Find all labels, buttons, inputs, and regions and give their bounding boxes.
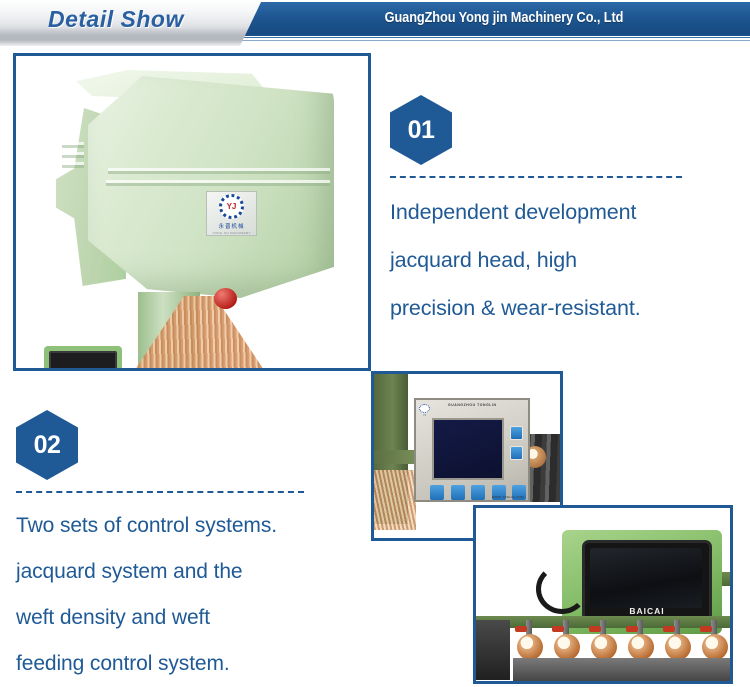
- feature-number-01: 01: [408, 116, 435, 145]
- feature-line: jacquard system and the: [16, 549, 366, 595]
- housing-vent-1: [62, 142, 84, 145]
- feeder-dark-block: [476, 620, 510, 680]
- panel-lcd-screen: [432, 418, 504, 480]
- control-panel-enclosure: YJ GUANGZHOU TONGLIN WWW.TONLIN.COM: [414, 398, 530, 502]
- yarn-cone: [517, 634, 543, 660]
- panel-brand-label: GUANGZHOU TONGLIN: [448, 403, 497, 407]
- panel-logo-text: YJ: [423, 414, 426, 417]
- red-indicator-knob: [214, 288, 237, 309]
- feeder-clip: [626, 626, 638, 632]
- panel-logo-icon: YJ: [419, 404, 430, 417]
- feature-block-01: 01 Independent development jacquard head…: [390, 95, 735, 332]
- weft-feeder-unit: [587, 620, 624, 684]
- feature-line: jacquard head, high: [390, 236, 735, 284]
- feeder-clip: [663, 626, 675, 632]
- photo-weft-feeder: BAICAI: [473, 505, 733, 684]
- nameplate-chinese: 永晋机械: [218, 222, 244, 230]
- company-name: GuangZhou Yong jin Machinery Co., Ltd: [288, 2, 721, 34]
- weft-feeder-unit: [661, 620, 698, 684]
- yarn-cone: [628, 634, 654, 660]
- auxiliary-display-unit: [44, 346, 122, 371]
- nameplate-pinyin: YONG JIN MACHINERY: [212, 231, 250, 235]
- feature-divider-02: [16, 491, 304, 493]
- machine-main-housing: [88, 76, 334, 298]
- feeder-clip: [700, 626, 712, 632]
- auxiliary-display-screen: [49, 351, 117, 371]
- housing-vent-2: [62, 152, 84, 155]
- feeder-base: [513, 658, 550, 684]
- feature-line: Independent development: [390, 188, 735, 236]
- weft-feeder-row: [476, 620, 733, 684]
- feature-divider-01: [390, 176, 682, 178]
- touchscreen-glass: [590, 548, 702, 608]
- yarn-cone: [702, 634, 728, 660]
- weft-feeder-unit: [624, 620, 661, 684]
- photo-jacquard-head: YJ 永晋机械 YONG JIN MACHINERY: [13, 53, 371, 371]
- feeder-clip: [515, 626, 527, 632]
- yarn-cone: [591, 634, 617, 660]
- yarn-cone: [554, 634, 580, 660]
- housing-ridge-1: [108, 168, 330, 171]
- nameplate-badge: YJ 永晋机械 YONG JIN MACHINERY: [206, 191, 257, 236]
- feature-number-02: 02: [34, 431, 61, 460]
- page-header: Detail Show GuangZhou Yong jin Machinery…: [0, 0, 750, 46]
- hexagon-badge-02: 02: [16, 410, 78, 480]
- feature-line: precision & wear-resistant.: [390, 284, 735, 332]
- panel-logo-circle: [419, 404, 430, 413]
- feature-line: weft density and weft: [16, 595, 366, 641]
- gear-logo-icon: YJ: [219, 194, 244, 219]
- weft-feeder-unit: [513, 620, 550, 684]
- feature-text-01: Independent development jacquard head, h…: [390, 188, 735, 332]
- feature-text-02: Two sets of control systems. jacquard sy…: [16, 503, 366, 687]
- feeder-base: [587, 658, 624, 684]
- feeder-base: [698, 658, 733, 684]
- page-title: Detail Show: [48, 6, 184, 33]
- housing-vent-3: [62, 162, 84, 165]
- weft-feeder-unit: [698, 620, 733, 684]
- feature-line: Two sets of control systems.: [16, 503, 366, 549]
- feeder-base: [550, 658, 587, 684]
- feeder-clip: [552, 626, 564, 632]
- feeder-base: [624, 658, 661, 684]
- feature-block-02: 02 Two sets of control systems. jacquard…: [16, 410, 366, 687]
- housing-ridge-2: [106, 180, 330, 183]
- weft-feeder-unit: [476, 620, 513, 684]
- nameplate-initials: YJ: [227, 203, 237, 211]
- weft-feeder-unit: [550, 620, 587, 684]
- hexagon-badge-01: 01: [390, 95, 452, 165]
- panel-side-button-down[interactable]: [510, 446, 523, 460]
- feature-line: feeding control system.: [16, 641, 366, 687]
- feeder-base: [661, 658, 698, 684]
- screen-cable: [536, 564, 588, 614]
- panel-side-button-up[interactable]: [510, 426, 523, 440]
- feeder-clip: [589, 626, 601, 632]
- yarn-cone: [665, 634, 691, 660]
